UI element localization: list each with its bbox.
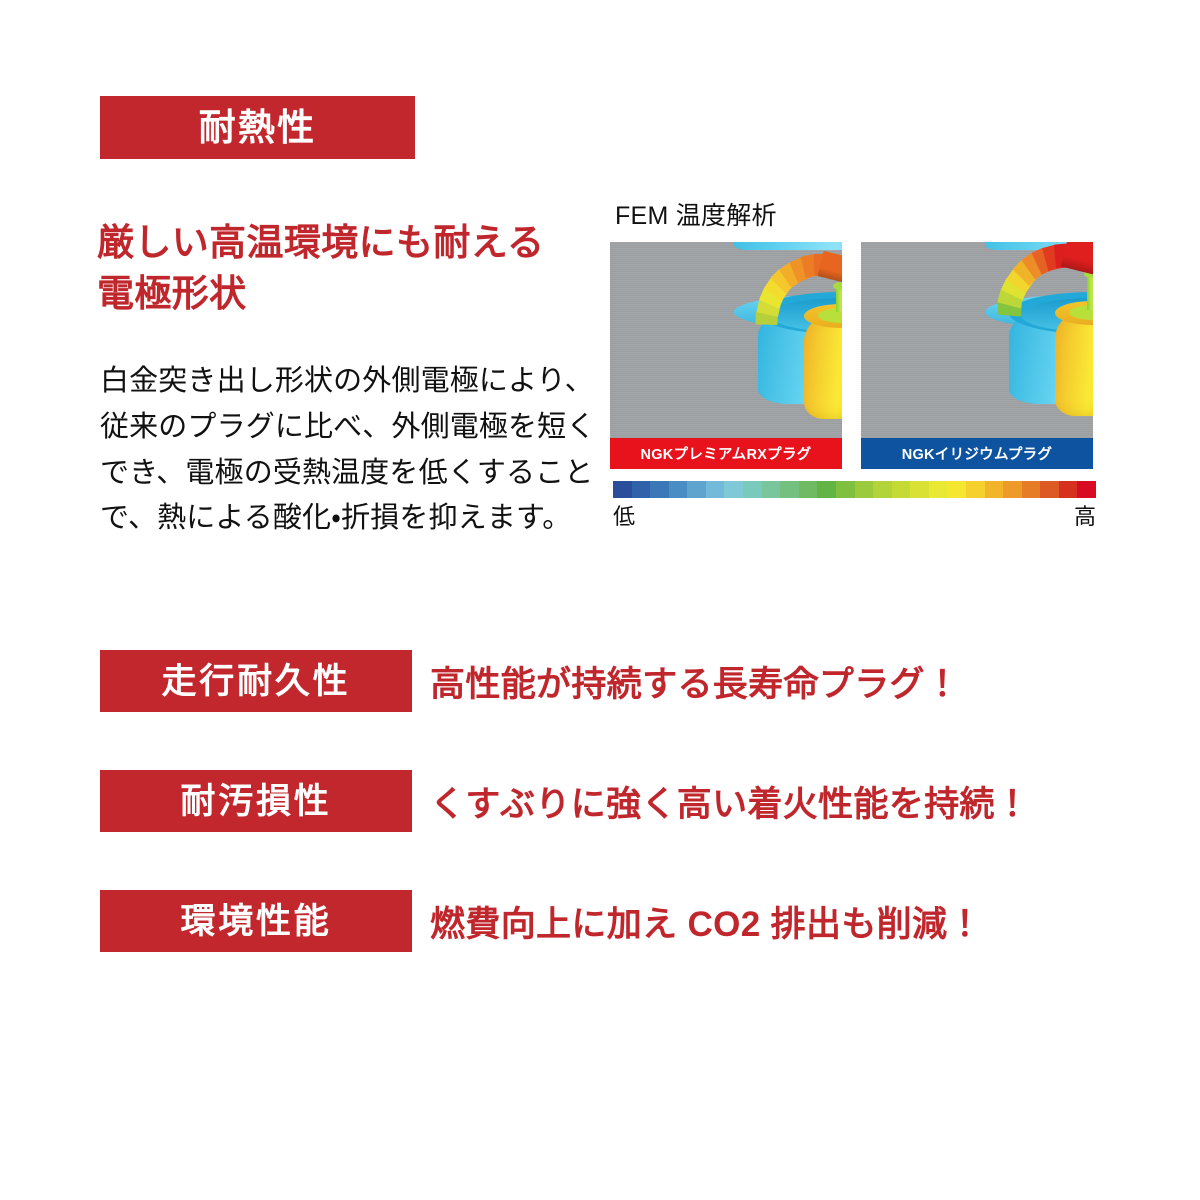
scale-swatch-22 bbox=[1022, 481, 1041, 498]
feature-badge-environmental-performance: 環境性能 bbox=[100, 890, 412, 952]
scale-swatch-12 bbox=[836, 481, 855, 498]
feature-row: 耐汚損性 くすぶりに強く高い着火性能を持続！ bbox=[0, 760, 1200, 880]
scale-swatch-17 bbox=[929, 481, 948, 498]
scale-swatch-7 bbox=[743, 481, 762, 498]
scale-swatch-25 bbox=[1077, 481, 1096, 498]
heat-resistance-section: 耐熱性 厳しい高温環境にも耐える 電極形状 白金突き出し形状の外側電極により、 … bbox=[0, 0, 1200, 600]
scale-swatch-18 bbox=[947, 481, 966, 498]
scale-swatch-14 bbox=[873, 481, 892, 498]
temperature-scale-labels: 低 高 bbox=[613, 499, 1096, 525]
body-line-4: で、熱による酸化・折損を抑えます。 bbox=[100, 496, 585, 542]
scale-swatch-2 bbox=[650, 481, 669, 498]
scale-swatch-10 bbox=[799, 481, 818, 498]
scale-swatch-0 bbox=[613, 481, 632, 498]
scale-swatch-19 bbox=[966, 481, 985, 498]
scale-swatch-16 bbox=[910, 481, 929, 498]
electrode-tip bbox=[1061, 242, 1093, 277]
scale-low-label: 低 bbox=[613, 499, 635, 531]
heat-resistance-heading: 厳しい高温環境にも耐える 電極形状 bbox=[97, 217, 577, 319]
scale-swatch-9 bbox=[780, 481, 799, 498]
feature-text-driving-durability: 高性能が持続する長寿命プラグ！ bbox=[430, 650, 960, 712]
scale-swatch-8 bbox=[762, 481, 781, 498]
scale-swatch-15 bbox=[892, 481, 911, 498]
scale-swatch-11 bbox=[817, 481, 836, 498]
scale-swatch-5 bbox=[706, 481, 725, 498]
feature-rows-section: 走行耐久性 高性能が持続する長寿命プラグ！ 耐汚損性 くすぶりに強く高い着火性能… bbox=[0, 640, 1200, 1000]
scale-high-label: 高 bbox=[1074, 499, 1096, 531]
heat-heading-line-2: 電極形状 bbox=[97, 268, 577, 319]
scale-swatch-1 bbox=[632, 481, 651, 498]
plug-insulator-nose bbox=[1055, 312, 1093, 416]
fem-analysis-title: FEM 温度解析 bbox=[615, 196, 777, 232]
body-line-3: でき、電極の受熱温度を低くすること bbox=[100, 451, 585, 497]
body-line-1: 白金突き出し形状の外側電極により、 bbox=[100, 359, 585, 405]
center-electrode-tip bbox=[833, 282, 842, 290]
scale-swatch-6 bbox=[724, 481, 743, 498]
feature-badge-driving-durability: 走行耐久性 bbox=[100, 650, 412, 712]
fem-panel-label-premium-rx: NGKプレミアムRXプラグ bbox=[610, 438, 842, 469]
plug-insulator-nose bbox=[804, 315, 842, 419]
heat-resistance-badge: 耐熱性 bbox=[100, 96, 415, 159]
scale-swatch-3 bbox=[669, 481, 688, 498]
body-line-2: 従来のプラグに比べ、外側電極を短く bbox=[100, 405, 585, 451]
temperature-color-scale bbox=[613, 481, 1096, 498]
fem-panel-iridium: NGKイリジウムプラグ bbox=[861, 242, 1093, 469]
feature-row: 環境性能 燃費向上に加え CO2 排出も削減！ bbox=[0, 880, 1200, 1000]
plug-shell-outer bbox=[734, 242, 842, 250]
feature-text-fouling-resistance: くすぶりに強く高い着火性能を持続！ bbox=[430, 770, 1030, 832]
scale-swatch-13 bbox=[855, 481, 874, 498]
fem-analysis-block: FEM 温度解析 NGKプレミアムRXプラグ bbox=[610, 196, 1096, 526]
feature-row: 走行耐久性 高性能が持続する長寿命プラグ！ bbox=[0, 640, 1200, 760]
electrode-tip bbox=[818, 251, 842, 283]
heat-heading-line-1: 厳しい高温環境にも耐える bbox=[97, 222, 544, 263]
heat-resistance-body-text: 白金突き出し形状の外側電極により、 従来のプラグに比べ、外側電極を短く でき、電… bbox=[100, 359, 585, 542]
scale-swatch-4 bbox=[687, 481, 706, 498]
center-electrode-pin bbox=[1087, 274, 1093, 310]
fem-panel-label-iridium: NGKイリジウムプラグ bbox=[861, 438, 1093, 469]
feature-text-environmental-performance: 燃費向上に加え CO2 排出も削減！ bbox=[430, 890, 983, 952]
feature-badge-fouling-resistance: 耐汚損性 bbox=[100, 770, 412, 832]
fem-panel-premium-rx: NGKプレミアムRXプラグ bbox=[610, 242, 842, 469]
scale-swatch-23 bbox=[1040, 481, 1059, 498]
scale-swatch-21 bbox=[1003, 481, 1022, 498]
scale-swatch-20 bbox=[985, 481, 1004, 498]
scale-swatch-24 bbox=[1059, 481, 1078, 498]
